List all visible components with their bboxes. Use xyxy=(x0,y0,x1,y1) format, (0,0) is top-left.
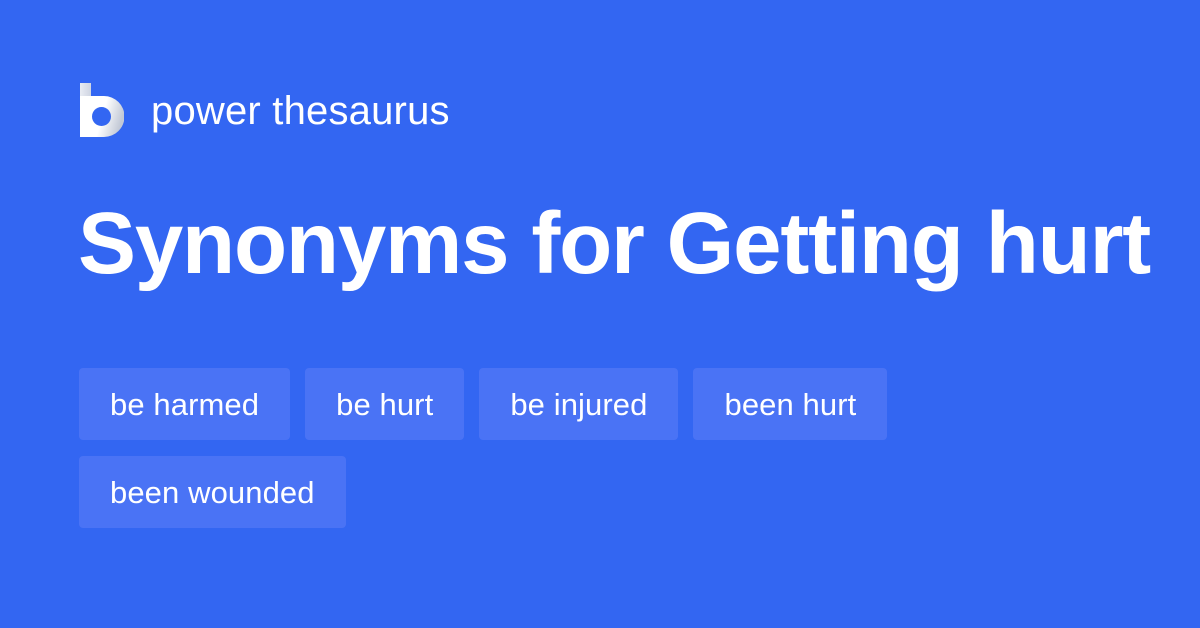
synonym-chip-label: be harmed xyxy=(110,389,259,420)
synonym-chip-label: been wounded xyxy=(110,477,315,508)
synonym-chip[interactable]: be hurt xyxy=(305,368,464,440)
synonym-chip-label: be injured xyxy=(510,389,647,420)
page-title: Synonyms for Getting hurt xyxy=(78,196,1150,292)
power-thesaurus-b-logo-icon xyxy=(80,83,124,137)
synonym-chip[interactable]: be harmed xyxy=(79,368,290,440)
synonym-chip[interactable]: be injured xyxy=(479,368,678,440)
synonym-chip-label: been hurt xyxy=(724,389,856,420)
synonym-chip[interactable]: been wounded xyxy=(79,456,346,528)
brand-name: power thesaurus xyxy=(151,91,450,131)
synonym-chip-label: be hurt xyxy=(336,389,433,420)
share-card: power thesaurus Synonyms for Getting hur… xyxy=(0,0,1200,628)
synonym-chip-list: be harmed be hurt be injured been hurt b… xyxy=(79,368,1119,528)
brand-logo[interactable]: power thesaurus xyxy=(80,80,450,140)
synonym-chip[interactable]: been hurt xyxy=(693,368,887,440)
